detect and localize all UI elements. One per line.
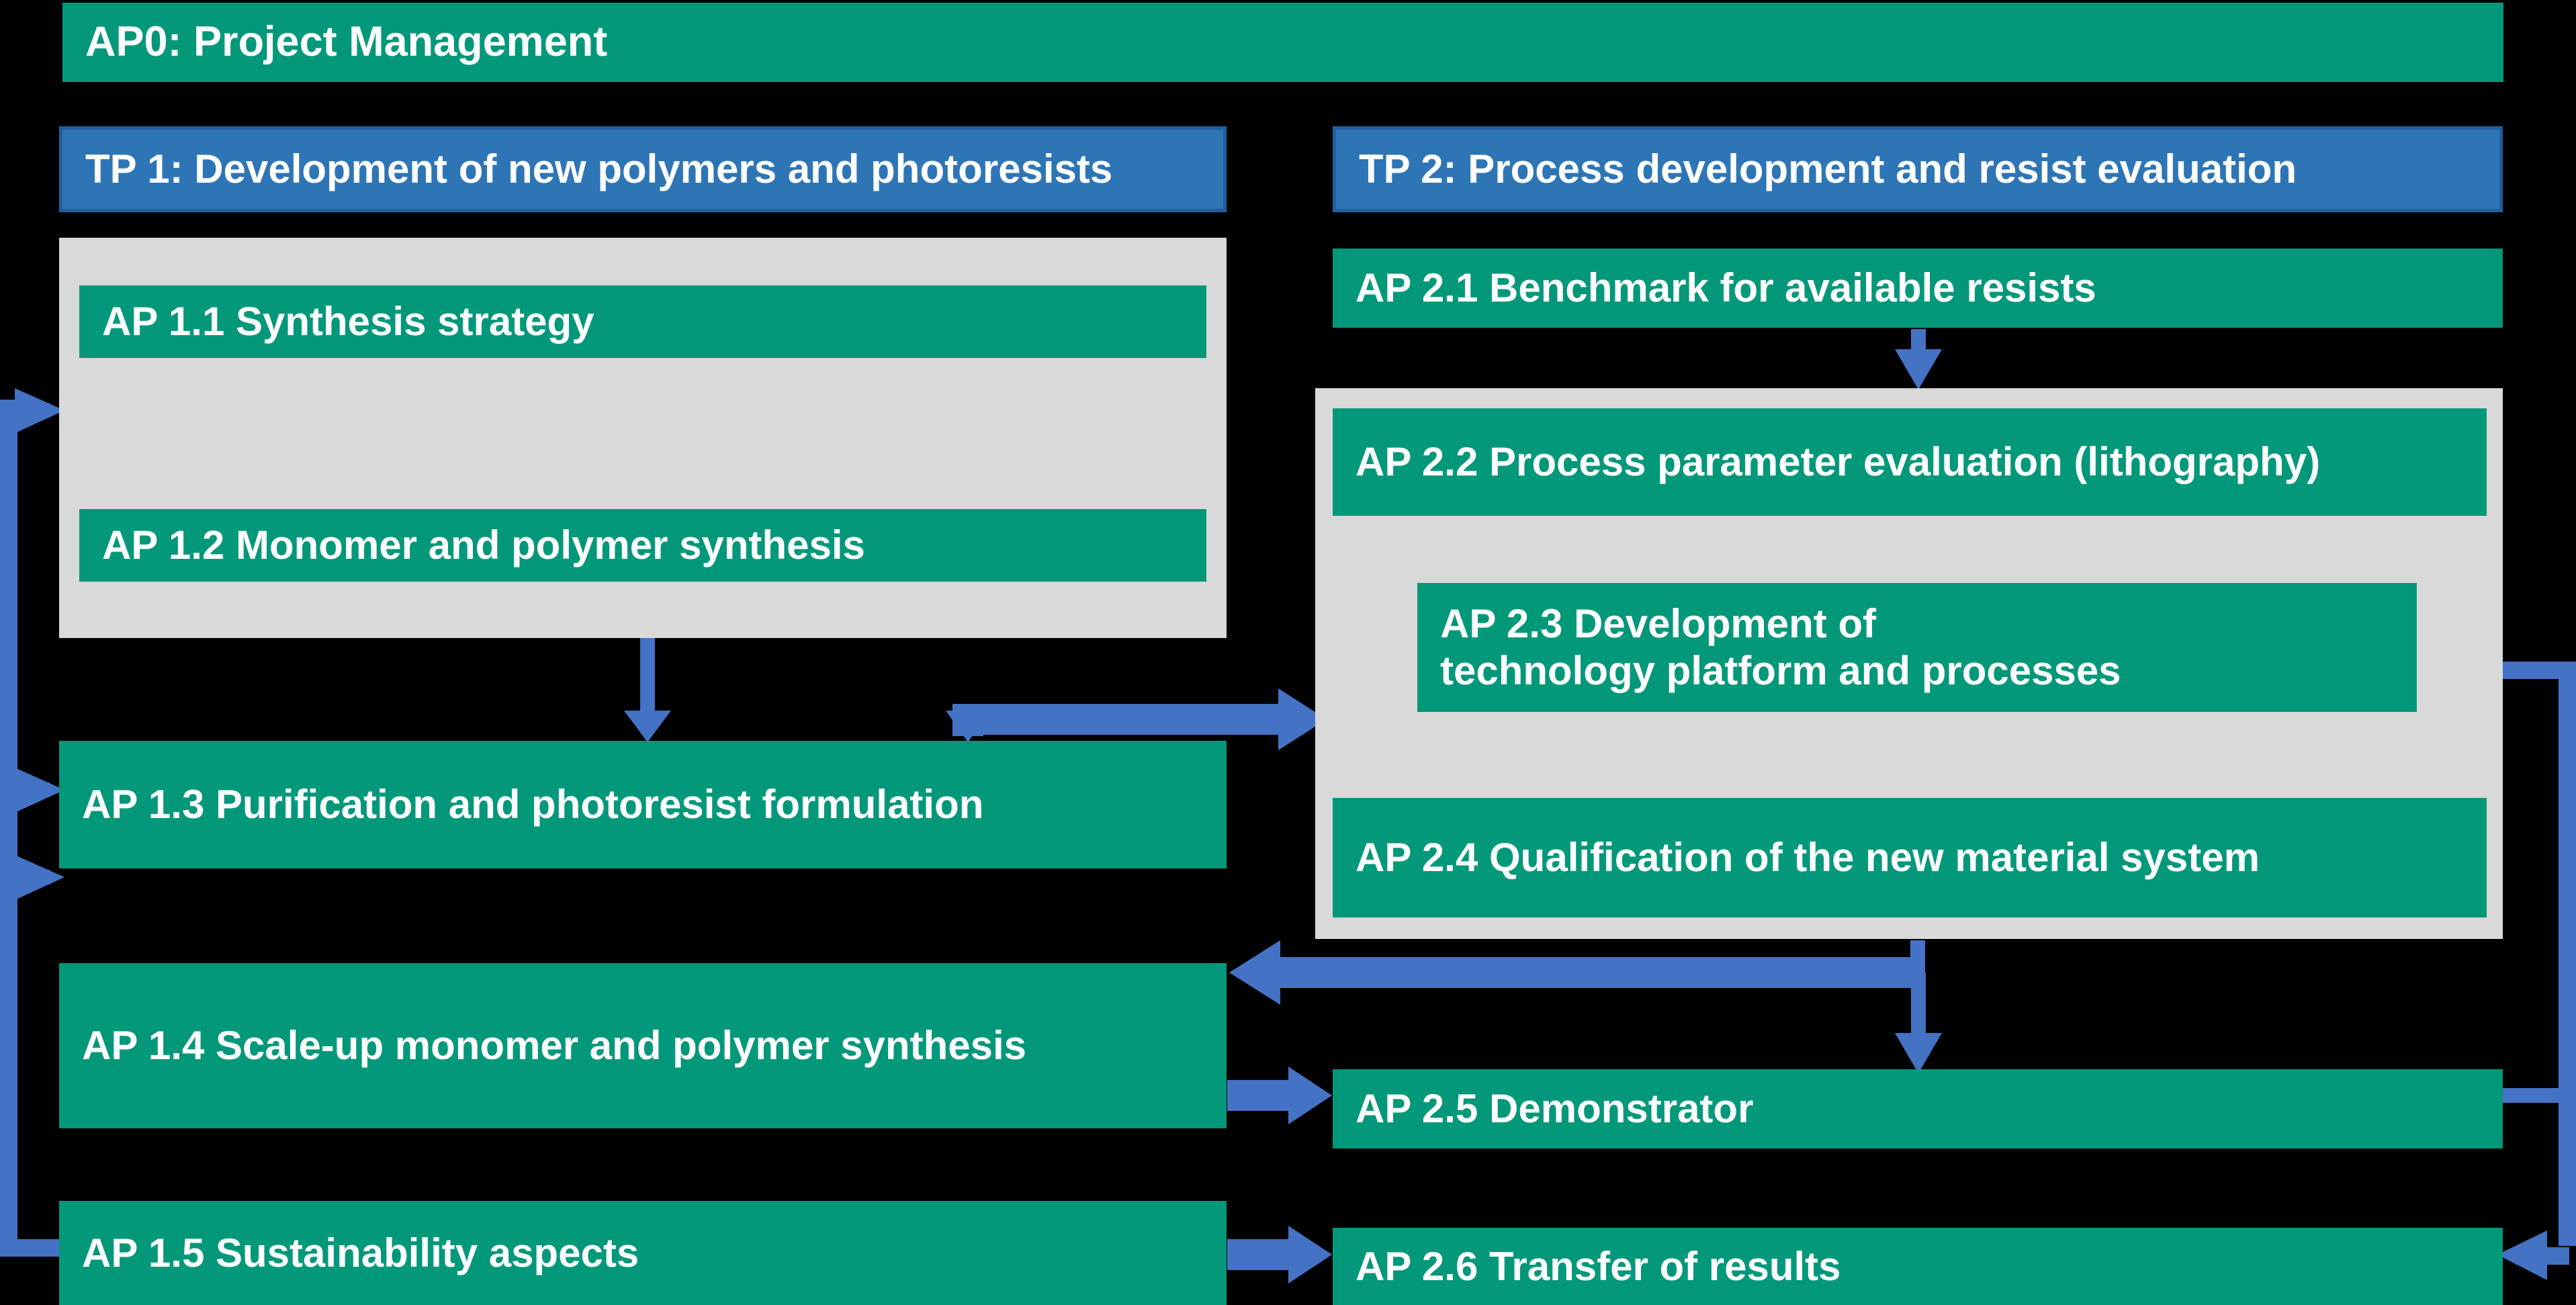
- ap2-4-qualification-of-the-new-material-system[interactable]: AP 2.4 Qualification of the new material…: [1333, 798, 2487, 917]
- ap1-2-label: AP 1.2 Monomer and polymer synthesis: [79, 522, 865, 569]
- connector-ap1-4-to-ap2-5: [1227, 1067, 1332, 1124]
- ap2-1-label: AP 2.1 Benchmark for available resists: [1333, 265, 2096, 312]
- ap1-1-synthesis-strategy[interactable]: AP 1.1 Synthesis strategy: [79, 285, 1206, 358]
- ap1-2-monomer-and-polymer-synthesis[interactable]: AP 1.2 Monomer and polymer synthesis: [79, 509, 1206, 582]
- ap2-3-label: AP 2.3 Development of technology platfor…: [1417, 600, 2121, 694]
- ap2-5-label: AP 2.5 Demonstrator: [1333, 1085, 1753, 1132]
- ap2-2-process-parameter-evaluation-lithography[interactable]: AP 2.2 Process parameter evaluation (lit…: [1333, 408, 2487, 516]
- ap2-2-label: AP 2.2 Process parameter evaluation (lit…: [1333, 439, 2320, 486]
- ap1-1-label: AP 1.1 Synthesis strategy: [79, 298, 594, 345]
- ap0-label: AP0: Project Management: [62, 17, 607, 66]
- ap2-4-label: AP 2.4 Qualification of the new material…: [1333, 834, 2260, 881]
- connector-ap2-4-to-ap1-4: [1229, 940, 1925, 1005]
- tp1-header-label: TP 1: Development of new polymers and ph…: [62, 146, 1112, 193]
- tp1-header[interactable]: TP 1: Development of new polymers and ph…: [59, 126, 1227, 212]
- ap2-3-development-of-technology-platform-and-processes[interactable]: AP 2.3 Development of technology platfor…: [1417, 583, 2417, 712]
- connector-right-feedback-rail: [2497, 662, 2576, 1280]
- tp2-header-label: TP 2: Process development and resist eva…: [1336, 146, 2297, 193]
- diagram-canvas: AP0: Project Management TP 1: Developmen…: [0, 0, 2576, 1305]
- ap2-1-benchmark-for-available-resists[interactable]: AP 2.1 Benchmark for available resists: [1333, 249, 2503, 328]
- ap1-4-scale-up-monomer-and-polymer-synthesis[interactable]: AP 1.4 Scale-up monomer and polymer synt…: [59, 963, 1227, 1128]
- ap2-6-label: AP 2.6 Transfer of results: [1333, 1243, 1841, 1290]
- ap2-5-demonstrator[interactable]: AP 2.5 Demonstrator: [1333, 1069, 2503, 1149]
- ap1-5-sustainability-aspects[interactable]: AP 1.5 Sustainability aspects: [59, 1201, 1227, 1305]
- ap2-6-transfer-of-results[interactable]: AP 2.6 Transfer of results: [1333, 1228, 2503, 1305]
- ap1-4-label: AP 1.4 Scale-up monomer and polymer synt…: [59, 1022, 1026, 1069]
- connector-ap2-1-ap2-2: [1895, 329, 1942, 390]
- ap0-project-management-bar[interactable]: AP0: Project Management: [62, 3, 2503, 82]
- ap1-5-label: AP 1.5 Sustainability aspects: [59, 1230, 639, 1277]
- connector-ap1-5-to-ap2-6: [1227, 1226, 1332, 1284]
- ap1-3-purification-and-photoresist-formulation[interactable]: AP 1.3 Purification and photoresist form…: [59, 741, 1227, 868]
- tp2-header[interactable]: TP 2: Process development and resist eva…: [1333, 126, 2503, 212]
- ap1-3-label: AP 1.3 Purification and photoresist form…: [59, 781, 983, 828]
- connector-ap1-2-ap1-3: [624, 638, 671, 742]
